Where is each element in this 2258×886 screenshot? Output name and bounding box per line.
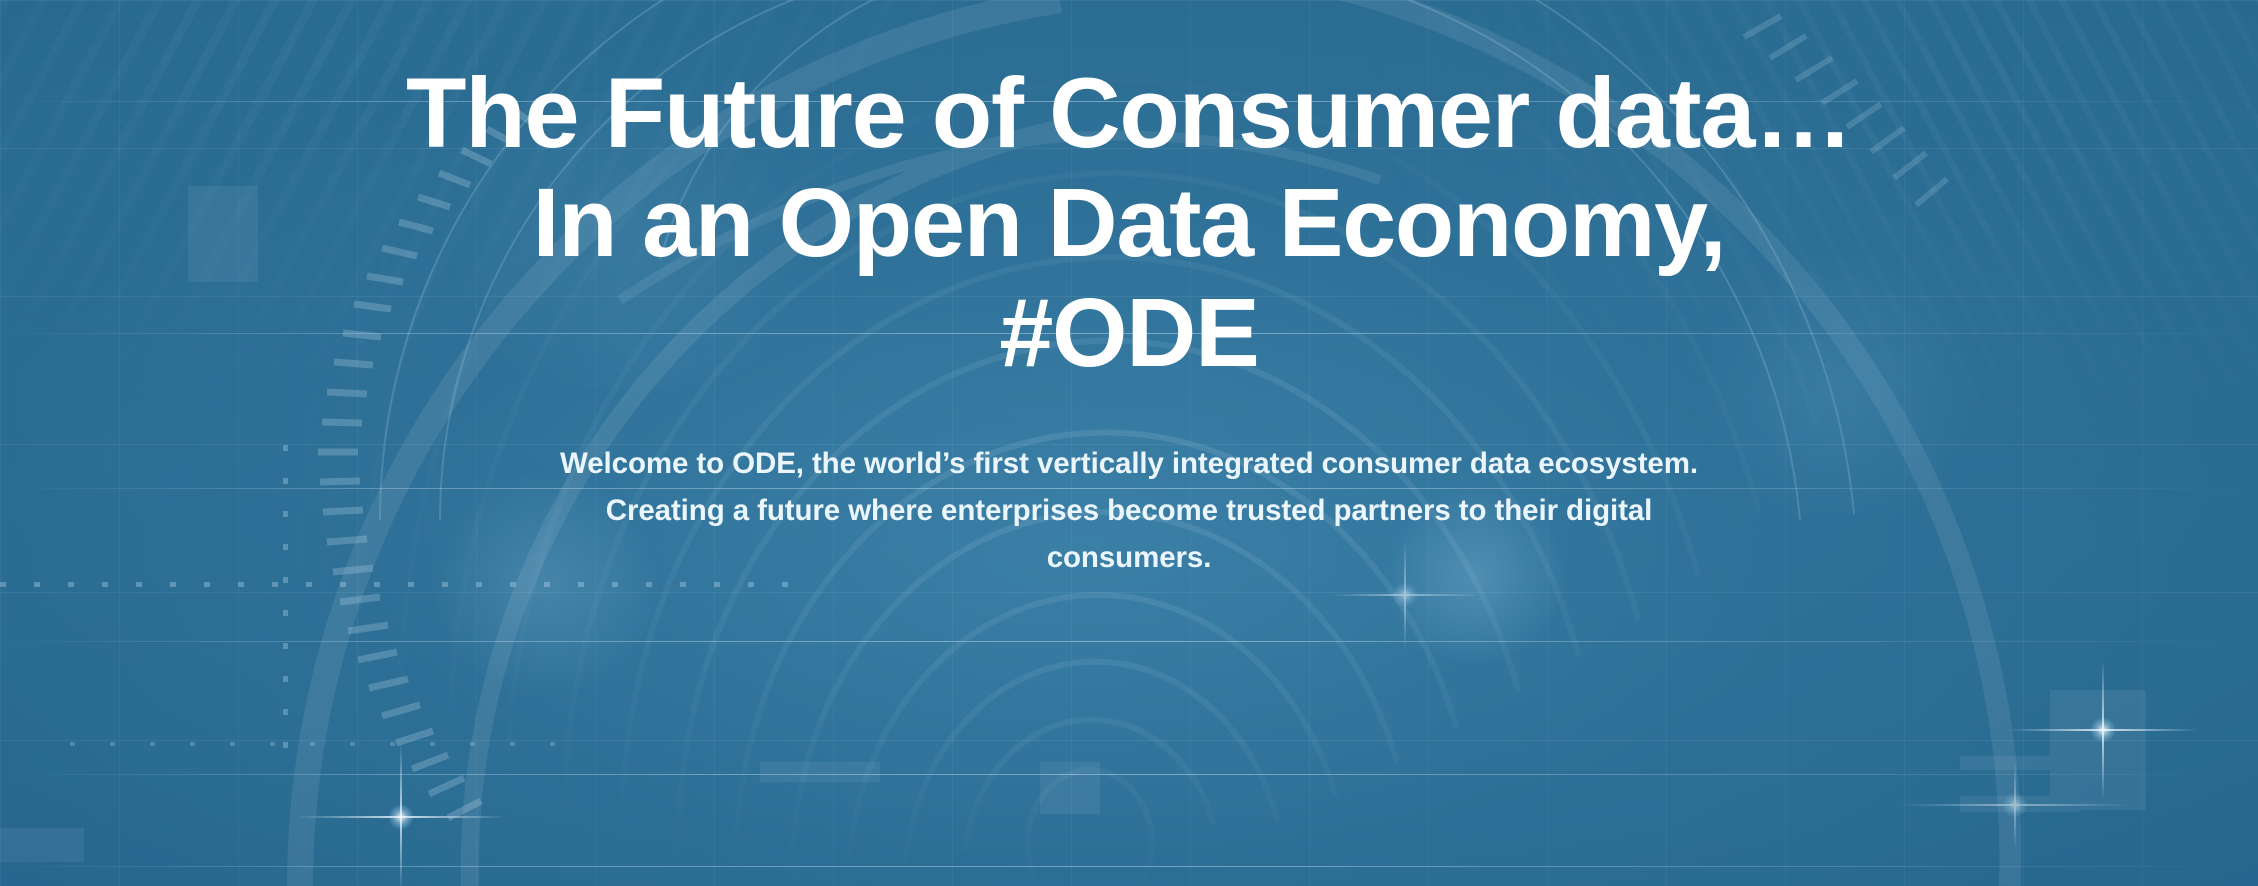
hero-subheading: Welcome to ODE, the world’s first vertic… — [539, 440, 1719, 581]
hero-content: The Future of Consumer data… In an Open … — [0, 0, 2258, 886]
page-title-line-1: The Future of Consumer data… — [29, 58, 2229, 168]
page-title-line-2: In an Open Data Economy, — [29, 168, 2229, 278]
hero-subheading-line-1: Welcome to ODE, the world’s first vertic… — [560, 447, 1698, 480]
page-title: The Future of Consumer data… In an Open … — [29, 58, 2229, 388]
page-title-line-3: #ODE — [29, 278, 2229, 388]
hero-subheading-line-3: consumers. — [1047, 541, 1212, 574]
hero-subheading-line-2: Creating a future where enterprises beco… — [606, 494, 1652, 527]
hero-banner: The Future of Consumer data… In an Open … — [0, 0, 2258, 886]
